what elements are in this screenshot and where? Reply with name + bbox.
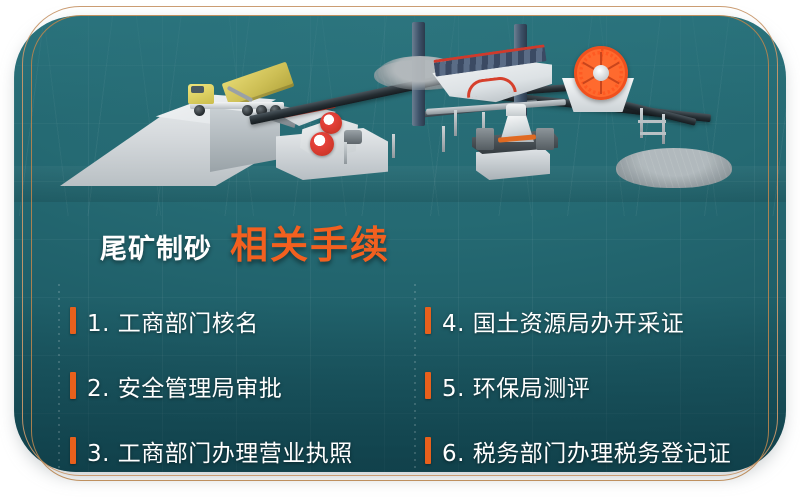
vsi-sand-maker-feed-neck [506,104,526,116]
bullet-bar-icon [425,437,431,464]
list-item[interactable]: 1. 工商部门核名 [70,304,425,338]
sand-pile-right [616,148,732,188]
dump-truck-wheel [242,105,253,116]
row-guide-left [58,284,60,472]
procedure-list: 1. 工商部门核名 4. 国土资源局办开采证 2. 安全管理局审批 5. 环保局… [70,288,770,472]
list-item[interactable]: 4. 国土资源局办开采证 [425,304,770,338]
list-item-label: 6. 税务部门办理税务登记证 [442,434,731,468]
conveyor-cross-brace [638,120,666,123]
headline: 尾矿制砂 相关手续 [100,214,390,269]
bullet-bar-icon [425,307,431,334]
screen-leg [454,110,457,136]
vsi-sand-maker-side-unit [536,128,554,150]
list-item[interactable]: 3. 工商部门办理营业执照 [70,434,425,468]
list-item[interactable]: 5. 环保局测评 [425,369,770,403]
jaw-crusher-flywheel [320,112,342,134]
poster-canvas: 尾矿制砂 相关手续 1. 工商部门核名 4. 国土资源局办开采证 2. 安全管理… [0,0,800,500]
list-item-label: 4. 国土资源局办开采证 [442,304,684,338]
conveyor-leg [344,142,347,164]
list-item-label: 3. 工商部门办理营业执照 [87,434,353,468]
list-item[interactable]: 6. 税务部门办理税务登记证 [425,434,770,468]
wheel-sand-washer-hub [593,65,609,81]
vsi-sand-maker-side-unit [476,128,494,150]
jaw-crusher-flywheel [310,132,334,156]
bullet-bar-icon [425,372,431,399]
list-item-label: 5. 环保局测评 [442,369,590,403]
headline-prefix: 尾矿制砂 [100,227,212,266]
list-item-label: 1. 工商部门核名 [87,304,259,338]
list-item-label: 2. 安全管理局审批 [87,369,282,403]
conveyor-cross-brace [640,132,666,135]
bullet-bar-icon [70,307,76,334]
bullet-bar-icon [70,372,76,399]
dump-truck-wheel [194,105,205,116]
list-item[interactable]: 2. 安全管理局审批 [70,369,425,403]
headline-emphasis: 相关手续 [230,214,390,269]
sand-pile-texture [616,148,732,188]
production-line-illustration [14,16,786,206]
conveyor-leg [662,114,665,144]
bullet-bar-icon [70,437,76,464]
teal-panel: 尾矿制砂 相关手续 1. 工商部门核名 4. 国土资源局办开采证 2. 安全管理… [14,16,786,472]
conveyor-leg [442,126,445,152]
dump-truck-windshield [191,86,204,93]
conveyor-leg [392,134,395,158]
